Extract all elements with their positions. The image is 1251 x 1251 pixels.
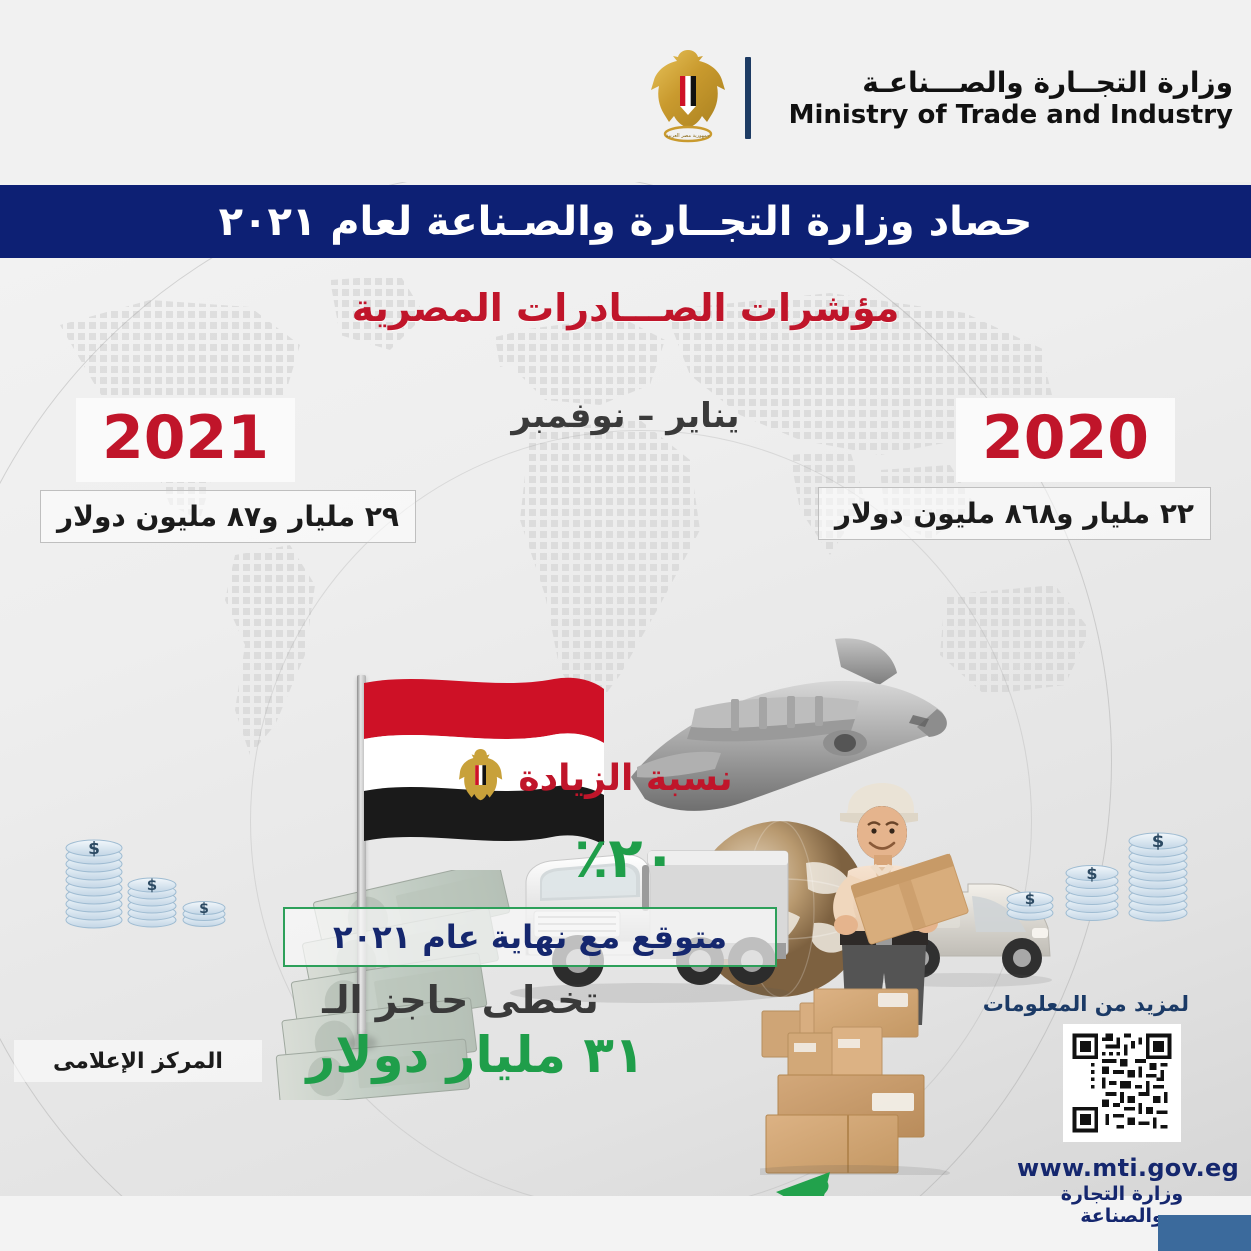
export-amount-2021: ٢٩ مليار و٨٧ مليون دولار: [40, 490, 416, 543]
ministry-name-block: وزارة التجــارة والصـــناعـة Ministry of…: [767, 65, 1233, 131]
media-center-label: المركز الإعلامى: [53, 1049, 223, 1074]
header-divider: [745, 57, 751, 139]
ministry-name-english: Ministry of Trade and Industry: [789, 100, 1233, 131]
main-title-bar: حصاد وزارة التجــارة والصـناعة لعام ٢٠٢١: [0, 185, 1251, 258]
corner-accent-block: [1158, 1215, 1251, 1251]
svg-text:$: $: [1025, 890, 1035, 908]
infographic-page: وزارة التجــارة والصـــناعـة Ministry of…: [0, 0, 1251, 1251]
media-center-badge: المركز الإعلامى: [14, 1040, 262, 1082]
egypt-eagle-emblem-icon: جمهورية مصر العربية: [647, 46, 729, 150]
qr-code[interactable]: [1063, 1024, 1181, 1142]
ministry-name-arabic: وزارة التجــارة والصـــناعـة: [789, 65, 1233, 100]
website-url[interactable]: www.mti.gov.eg: [1017, 1154, 1227, 1182]
more-info-label: لمزيد من المعلومات: [983, 992, 1189, 1016]
forecast-line-1: تخطى حاجز الـ: [322, 978, 599, 1022]
growth-rate-label: نسبة الزيادة: [0, 758, 1251, 799]
svg-text:$: $: [199, 901, 209, 917]
page-title: حصاد وزارة التجــارة والصـناعة لعام ٢٠٢١: [219, 199, 1033, 245]
year-label-2020: 2020: [956, 398, 1175, 482]
year-label-2021: 2021: [76, 398, 295, 482]
growth-rate-value: ٪٢٠: [0, 826, 1251, 891]
forecast-amount: ٣١ مليار دولار: [307, 1026, 645, 1084]
svg-text:جمهورية مصر العربية: جمهورية مصر العربية: [666, 133, 710, 139]
forecast-badge-text: متوقع مع نهاية عام ٢٠٢١: [333, 918, 727, 956]
page-header: وزارة التجــارة والصـــناعـة Ministry of…: [0, 0, 1251, 182]
forecast-badge: متوقع مع نهاية عام ٢٠٢١: [283, 907, 777, 967]
export-amount-2020: ٢٢ مليار و٨٦٨ مليون دولار: [818, 487, 1211, 540]
